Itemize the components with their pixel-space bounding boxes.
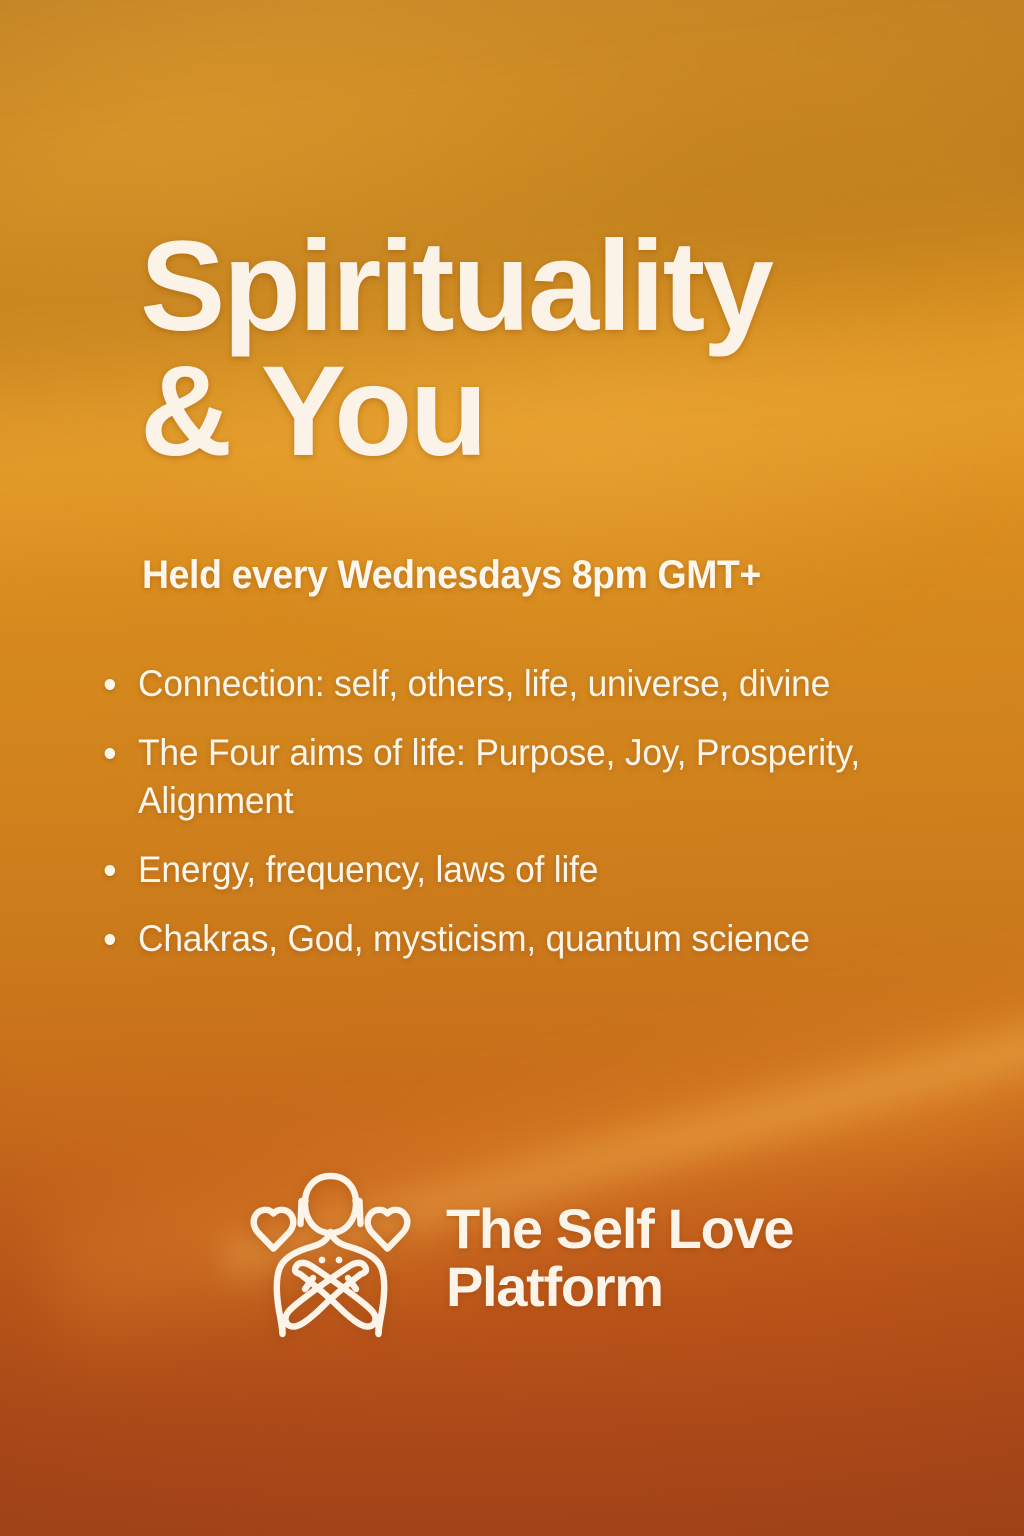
bullet-dot-icon (105, 934, 116, 945)
brand-name: The Self Love Platform (446, 1200, 793, 1316)
list-item: Chakras, God, mysticism, quantum science (96, 915, 898, 962)
bullet-dot-icon (105, 748, 116, 759)
page-title-line-1: Spirituality (140, 224, 980, 349)
list-item-label: Chakras, God, mysticism, quantum science (138, 918, 810, 959)
list-item: The Four aims of life: Purpose, Joy, Pro… (96, 729, 898, 824)
page-title: Spirituality & You (140, 224, 980, 475)
list-item-label: Energy, frequency, laws of life (138, 849, 598, 890)
list-item: Energy, frequency, laws of life (96, 846, 898, 893)
brand-lockup: The Self Love Platform (243, 1168, 793, 1348)
brand-name-line-1: The Self Love (446, 1200, 793, 1258)
brand-name-line-2: Platform (446, 1258, 793, 1316)
self-hug-person-with-hearts-icon (243, 1168, 418, 1348)
list-item-label: The Four aims of life: Purpose, Joy, Pro… (138, 732, 860, 820)
topics-list: Connection: self, others, life, universe… (96, 660, 936, 963)
bullet-dot-icon (105, 679, 116, 690)
poster-content: Spirituality & You Held every Wednesdays… (0, 0, 1024, 1536)
bullet-dot-icon (105, 865, 116, 876)
poster-canvas: Spirituality & You Held every Wednesdays… (0, 0, 1024, 1536)
list-item: Connection: self, others, life, universe… (96, 660, 898, 707)
schedule-subtitle: Held every Wednesdays 8pm GMT+ (142, 553, 761, 597)
page-title-line-2: & You (140, 349, 980, 474)
list-item-label: Connection: self, others, life, universe… (138, 663, 830, 704)
